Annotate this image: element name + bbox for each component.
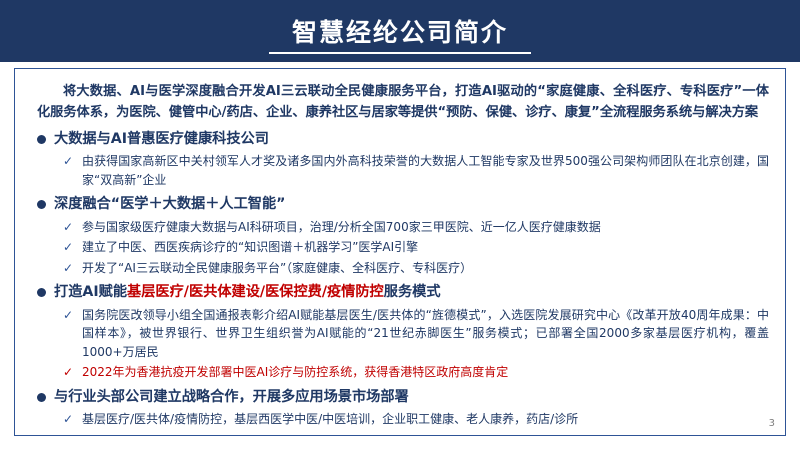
check-icon: ✓ <box>63 260 76 277</box>
section-heading-row: 深度融合“医学＋大数据＋人工智能” <box>37 194 769 215</box>
section-heading-row: 与行业头部公司建立战略合作，开展多应用场景市场部署 <box>37 387 769 408</box>
section-heading-part: 与行业头部公司建立战略合作，开展多应用场景市场部署 <box>54 389 409 405</box>
title-underline <box>269 52 531 54</box>
bullet-dot-icon <box>37 200 46 209</box>
check-icon: ✓ <box>63 153 76 170</box>
bullet-dot-icon <box>37 393 46 402</box>
page-number: 3 <box>769 418 775 429</box>
check-icon: ✓ <box>63 411 76 428</box>
sub-item-text: 参与国家级医疗健康大数据与AI科研项目，治理/分析全国700家三甲医院、近一亿人… <box>82 218 769 237</box>
lead-paragraph: 将大数据、AI与医学深度融合开发AI三云联动全民健康服务平台，打造AI驱动的“家… <box>37 81 769 124</box>
sub-item-row: ✓国务院医改领导小组全国通报表彰介绍AI赋能基层医生/医共体的“旌德模式”，入选… <box>63 306 769 362</box>
section-heading: 大数据与AI普惠医疗健康科技公司 <box>54 129 269 150</box>
sections-list: 大数据与AI普惠医疗健康科技公司✓由获得国家高新区中关村领军人才奖及诸多国内外高… <box>37 129 769 429</box>
sub-item-text: 由获得国家高新区中关村领军人才奖及诸多国内外高科技荣誉的大数据人工智能专家及世界… <box>82 152 769 189</box>
sub-item-row: ✓2022年为香港抗疫开发部署中医AI诊疗与防控系统，获得香港特区政府高度肯定 <box>63 363 769 382</box>
sub-item-text: 2022年为香港抗疫开发部署中医AI诊疗与防控系统，获得香港特区政府高度肯定 <box>82 363 769 382</box>
sub-item-row: ✓开发了“AI三云联动全民健康服务平台”（家庭健康、全科医疗、专科医疗） <box>63 259 769 278</box>
check-icon: ✓ <box>63 239 76 256</box>
bullet-dot-icon <box>37 288 46 297</box>
slide-title-bar: 智慧经纶公司简介 <box>0 0 800 62</box>
check-icon: ✓ <box>63 307 76 324</box>
check-icon: ✓ <box>63 219 76 236</box>
page-title: 智慧经纶公司简介 <box>292 13 508 49</box>
sub-item-text: 基层医疗/医共体/疫情防控，基层西医学中医/中医培训，企业职工健康、老人康养，药… <box>82 410 769 429</box>
content-frame: 将大数据、AI与医学深度融合开发AI三云联动全民健康服务平台，打造AI驱动的“家… <box>14 68 786 436</box>
section-heading-row: 大数据与AI普惠医疗健康科技公司 <box>37 129 769 150</box>
section-heading: 与行业头部公司建立战略合作，开展多应用场景市场部署 <box>54 387 409 408</box>
sub-item-row: ✓由获得国家高新区中关村领军人才奖及诸多国内外高科技荣誉的大数据人工智能专家及世… <box>63 152 769 189</box>
sub-item-row: ✓基层医疗/医共体/疫情防控，基层西医学中医/中医培训，企业职工健康、老人康养，… <box>63 410 769 429</box>
content-body: 将大数据、AI与医学深度融合开发AI三云联动全民健康服务平台，打造AI驱动的“家… <box>37 81 769 429</box>
section-heading: 深度融合“医学＋大数据＋人工智能” <box>54 194 285 215</box>
sub-item-text: 建立了中医、西医疾病诊疗的“知识图谱＋机器学习”医学AI引擎 <box>82 238 769 257</box>
check-icon: ✓ <box>63 364 76 381</box>
section-heading-part: 深度融合“医学＋大数据＋人工智能” <box>54 196 285 212</box>
sub-item-row: ✓参与国家级医疗健康大数据与AI科研项目，治理/分析全国700家三甲医院、近一亿… <box>63 218 769 237</box>
sub-item-row: ✓建立了中医、西医疾病诊疗的“知识图谱＋机器学习”医学AI引擎 <box>63 238 769 257</box>
sub-item-text: 国务院医改领导小组全国通报表彰介绍AI赋能基层医生/医共体的“旌德模式”，入选医… <box>82 306 769 362</box>
sub-item-text: 开发了“AI三云联动全民健康服务平台”（家庭健康、全科医疗、专科医疗） <box>82 259 769 278</box>
section-heading-part: 服务模式 <box>384 284 441 300</box>
section-heading-row: 打造AI赋能基层医疗/医共体建设/医保控费/疫情防控服务模式 <box>37 282 769 303</box>
section-heading-part: 打造AI赋能 <box>54 284 127 300</box>
section-heading: 打造AI赋能基层医疗/医共体建设/医保控费/疫情防控服务模式 <box>54 282 441 303</box>
section-heading-part: 大数据与AI普惠医疗健康科技公司 <box>54 131 269 147</box>
section-heading-part: 基层医疗/医共体建设/医保控费/疫情防控 <box>127 284 384 300</box>
bullet-dot-icon <box>37 135 46 144</box>
